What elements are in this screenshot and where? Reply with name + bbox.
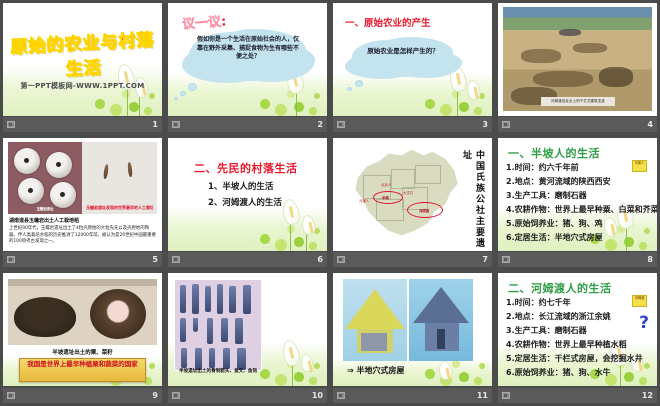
slide-cell-9[interactable]: 半坡遗址出土的粟、菜籽 我国是世界上最早种植粟和蔬菜的国家 9: [0, 270, 165, 406]
thought-cloud-text: 原始农业是怎样产生的？: [363, 47, 443, 56]
slide-8-canvas[interactable]: 一、半坡人的生活 半坡人 1.时间：约六千年前 2.地点：黄河流域的陕西西安 3…: [498, 138, 657, 251]
map-highlight-ellipse: [407, 202, 443, 218]
row-number: 6.: [506, 233, 515, 242]
row-key: 原始饲养业：: [515, 368, 563, 377]
row-key: 农耕作物：: [515, 340, 555, 349]
thumbnail-icon: [7, 256, 15, 263]
question-mark-icon: ?: [639, 313, 649, 333]
slide-footer-3: 3: [333, 117, 492, 132]
row-value: 干栏式房屋，会挖掘水井: [555, 354, 643, 363]
thumbnail-icon: [7, 392, 15, 399]
row-key: 原始饲养业：: [515, 219, 563, 228]
row-key: 生产工具：: [515, 326, 555, 335]
slide-footer-12: 12: [498, 388, 657, 403]
thumbnail-icon: [172, 392, 180, 399]
row-value: 约六千年前: [539, 163, 579, 172]
page-title: 原始的农业与村落生活: [8, 25, 158, 83]
slide-5-canvas[interactable]: 玉蟾岩遗址 玉蟾岩遗址发现的世界最早的人工栽培稻 湖南道县玉蟾岩出土人工栽培稻 …: [3, 138, 162, 251]
slide-cell-12[interactable]: 二、河姆渡人的生活 河姆渡 ? 1.时间：约七千年 2.地点：长江流域的浙江余姚…: [495, 270, 660, 406]
slide-6-canvas[interactable]: 二、先民的村落生活 1、半坡人的生活 2、河姆渡人的生活: [168, 138, 327, 251]
thumbnail-icon: [7, 121, 15, 128]
caption-title: 湖南道县玉蟾岩出土人工栽培稻: [9, 217, 79, 224]
slide-9-canvas[interactable]: 半坡遗址出土的粟、菜籽 我国是世界上最早种植粟和蔬菜的国家: [3, 273, 162, 386]
slide-number: 8: [647, 255, 653, 264]
slide-number: 2: [317, 120, 323, 129]
rice-grains-photo: 玉蟾岩遗址发现的世界最早的人工栽培稻: [82, 142, 157, 214]
slide-footer-10: 10: [168, 388, 327, 403]
row-value: 长江流域的浙江余姚: [539, 312, 611, 321]
slide-footer-1: 1: [3, 117, 162, 132]
row-number: 4.: [506, 205, 515, 214]
row-value: 世界上最早种植水稻: [555, 340, 627, 349]
slide-12-canvas[interactable]: 二、河姆渡人的生活 河姆渡 ? 1.时间：约七千年 2.地点：长江流域的浙江余姚…: [498, 273, 657, 386]
list-item: 1、半坡人的生活: [208, 180, 273, 192]
row-key: 农耕作物：: [515, 205, 555, 214]
slide-footer-8: 8: [498, 252, 657, 267]
row-key: 生产工具：: [515, 191, 555, 200]
rice-photo-red-caption: 玉蟾岩遗址发现的世界最早的人工栽培稻: [86, 205, 153, 211]
watermark-subtitle: 第一PPT模板网-WWW.1PPT.COM: [3, 81, 162, 91]
thought-bubble-small: [174, 97, 178, 100]
row-value: 磨制石器: [555, 326, 587, 335]
pit-house-illustrations: [343, 279, 473, 361]
row-number: 2.: [506, 312, 515, 321]
slide-number: 11: [477, 391, 488, 400]
map-highlight-ellipse: [373, 191, 403, 204]
slide-footer-6: 6: [168, 252, 327, 267]
thumbnail-icon: [502, 392, 510, 399]
slide-10-canvas[interactable]: 半坡遗址出土的骨制箭头、鱼叉、鱼钩: [168, 273, 327, 386]
thought-bubble-small: [347, 87, 352, 91]
slide-number: 10: [312, 391, 323, 400]
slide-vertical-title: 中国氏族公社主要遗址: [460, 150, 486, 251]
caption-body: 上世纪90年代，玉蟾岩遗址出土了4粒壳原始的大粒先先以及壳原始的陶器。伴人类栽培…: [9, 226, 156, 246]
slide-number: 9: [152, 391, 158, 400]
thumbnail-icon: [502, 121, 510, 128]
row-number: 1.: [506, 163, 515, 172]
slide-4-canvas[interactable]: 河姆渡遗址出土的干栏式建筑遗迹: [498, 3, 657, 116]
map-label: 元谋人: [359, 198, 369, 203]
slide-number: 6: [317, 255, 323, 264]
slide-footer-2: 2: [168, 117, 327, 132]
thumbnail-icon: [172, 256, 180, 263]
row-value: 半地穴式房屋: [555, 233, 603, 242]
row-number: 3.: [506, 191, 515, 200]
seeds-photo: [8, 279, 157, 345]
slide-3-canvas[interactable]: 一、原始农业的产生 原始农业是怎样产生的？: [333, 3, 492, 116]
slide-heading: 一、半坡人的生活: [508, 145, 600, 161]
slide-heading: 一、原始农业的产生: [345, 15, 431, 29]
row-key: 定居生活：: [515, 354, 555, 363]
photo-caption: 河姆渡遗址出土的干栏式建筑遗迹: [541, 97, 615, 106]
row-value: 猪、狗、鸡: [563, 219, 603, 228]
slide-footer-9: 9: [3, 388, 162, 403]
thumbnail-icon: [502, 256, 510, 263]
list-item: 2、河姆渡人的生活: [208, 196, 282, 208]
row-key: 时间：: [515, 298, 539, 307]
slide-cell-4[interactable]: 河姆渡遗址出土的干栏式建筑遗迹 4: [495, 0, 660, 135]
photo-caption: ⇒ 半地穴式房屋: [347, 365, 405, 376]
row-value: 磨制石器: [555, 191, 587, 200]
slide-cell-7[interactable]: 北京人 大汶口 元谋人 半坡 河姆渡 中国氏族公社主要遗址 7: [330, 135, 495, 270]
slide-cell-3[interactable]: 一、原始农业的产生 原始农业是怎样产生的？ 3: [330, 0, 495, 135]
slide-1-canvas[interactable]: 原始的农业与村落生活 第一PPT模板网-WWW.1PPT.COM: [3, 3, 162, 116]
stamp-badge: 河姆渡: [632, 295, 647, 307]
slide-cell-8[interactable]: 一、半坡人的生活 半坡人 1.时间：约六千年前 2.地点：黄河流域的陕西西安 3…: [495, 135, 660, 270]
photo-caption: 半坡遗址出土的粟、菜籽: [3, 348, 162, 356]
slide-footer-5: 5: [3, 252, 162, 267]
thought-cloud: [361, 39, 445, 77]
highlight-banner: 我国是世界上最早种植粟和蔬菜的国家: [19, 358, 146, 382]
slide-11-canvas[interactable]: ⇒ 半地穴式房屋: [333, 273, 492, 386]
row-key: 地点：: [515, 312, 539, 321]
rice-grain-discs-photo: 玉蟾岩遗址: [8, 142, 82, 214]
thought-cloud-text: 假如你是一个生活在原始社会的人，仅靠在野外采集、捕捉食物为生有哪些不便之处？: [196, 36, 300, 62]
row-number: 4.: [506, 340, 515, 349]
slide-number: 3: [482, 120, 488, 129]
pit-house-exterior: [409, 279, 473, 361]
thumbnail-icon: [337, 256, 345, 263]
slide-thumbnail-grid: 原始的农业与村落生活 第一PPT模板网-WWW.1PPT.COM 1 议一议: …: [0, 0, 660, 406]
bone-tools-photo: [174, 279, 262, 371]
slide-7-canvas[interactable]: 北京人 大汶口 元谋人 半坡 河姆渡 中国氏族公社主要遗址: [333, 138, 492, 251]
slide-heading: 二、先民的村落生活: [194, 160, 298, 176]
thumbnail-icon: [337, 392, 345, 399]
slide-cell-1[interactable]: 原始的农业与村落生活 第一PPT模板网-WWW.1PPT.COM 1: [0, 0, 165, 135]
thumbnail-icon: [172, 121, 180, 128]
map-label: 北京人: [381, 182, 391, 187]
photo-caption: 半坡遗址出土的骨制箭头、鱼叉、鱼钩: [172, 369, 264, 375]
row-number: 6.: [506, 368, 515, 377]
row-value: 世界上最早种粟、白菜和芥菜: [555, 205, 657, 214]
rice-photos: 玉蟾岩遗址 玉蟾岩遗址发现的世界最早的人工栽培稻: [8, 142, 157, 214]
row-number: 2.: [506, 177, 515, 186]
slide-cell-11[interactable]: ⇒ 半地穴式房屋 11: [330, 270, 495, 406]
row-key: 地点：: [515, 177, 539, 186]
row-number: 3.: [506, 326, 515, 335]
row-value: 黄河流域的陕西西安: [539, 177, 611, 186]
slide-number: 7: [482, 255, 488, 264]
row-number: 5.: [506, 219, 515, 228]
thumbnail-icon: [337, 121, 345, 128]
slide-2-canvas[interactable]: 议一议: 假如你是一个生活在原始社会的人，仅靠在野外采集、捕捉食物为生有哪些不便…: [168, 3, 327, 116]
map-label: 大汶口: [403, 190, 413, 195]
thought-bubble-small: [188, 83, 197, 91]
slide-footer-4: 4: [498, 117, 657, 132]
millet-pile: [8, 279, 82, 345]
slide-number: 5: [152, 255, 158, 264]
slide-cell-5[interactable]: 玉蟾岩遗址 玉蟾岩遗址发现的世界最早的人工栽培稻 湖南道县玉蟾岩出土人工栽培稻 …: [0, 135, 165, 270]
slide-heading: 议一议:: [181, 10, 226, 32]
slide-cell-6[interactable]: 二、先民的村落生活 1、半坡人的生活 2、河姆渡人的生活 6: [165, 135, 330, 270]
excavation-site-photo: 河姆渡遗址出土的干栏式建筑遗迹: [503, 7, 652, 111]
slide-number: 4: [647, 120, 653, 129]
slide-footer-11: 11: [333, 388, 492, 403]
seeds-bowl: [82, 279, 157, 345]
slide-number: 12: [642, 391, 653, 400]
slide-number: 1: [152, 120, 158, 129]
slide-footer-7: 7: [333, 252, 492, 267]
thought-bubble-small: [355, 80, 363, 87]
slide-cell-10[interactable]: 半坡遗址出土的骨制箭头、鱼叉、鱼钩 10: [165, 270, 330, 406]
row-number: 1.: [506, 298, 515, 307]
stamp-badge: 半坡人: [632, 160, 647, 172]
row-value: 约七千年: [539, 298, 571, 307]
row-key: 定居生活：: [515, 233, 555, 242]
pit-house-cutaway: [343, 279, 407, 361]
row-number: 5.: [506, 354, 515, 363]
row-value: 猪、狗、水牛: [563, 368, 611, 377]
slide-heading: 二、河姆渡人的生活: [508, 280, 612, 296]
thought-bubble-small: [180, 91, 186, 96]
row-key: 时间：: [515, 163, 539, 172]
slide-cell-2[interactable]: 议一议: 假如你是一个生活在原始社会的人，仅靠在野外采集、捕捉食物为生有哪些不便…: [165, 0, 330, 135]
